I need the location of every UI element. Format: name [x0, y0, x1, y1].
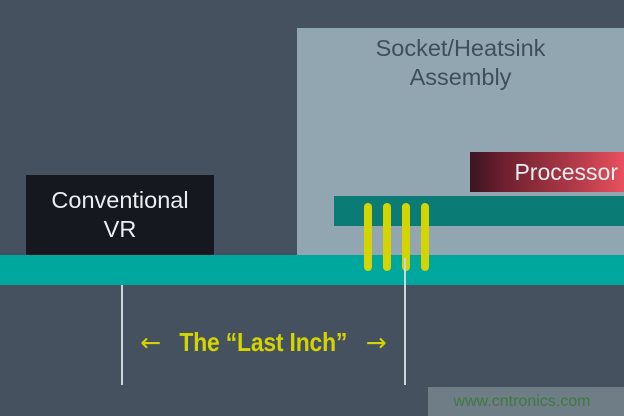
last-inch-caption: ← The “Last Inch” → — [121, 326, 406, 358]
diagram-canvas: Socket/Heatsink Assembly Processor Conve… — [0, 0, 624, 416]
arrow-left-icon: ← — [140, 330, 161, 355]
socket-label-line-1: Socket/Heatsink — [297, 34, 624, 63]
connector-pin-2-lower — [383, 240, 391, 271]
last-inch-label: The “Last Inch” — [180, 328, 348, 356]
connector-pin-1-lower — [364, 240, 372, 271]
socket-label-line-2: Assembly — [297, 63, 624, 92]
connector-pin-4-lower — [421, 240, 429, 271]
conventional-vr-label-line-1: Conventional — [26, 186, 214, 215]
socket-heatsink-assembly-label: Socket/Heatsink Assembly — [297, 34, 624, 92]
motherboard-pcb-bar — [0, 255, 624, 285]
watermark-label: www.cntronics.com — [428, 392, 616, 412]
conventional-vr-label: Conventional VR — [26, 186, 214, 244]
conventional-vr-label-line-2: VR — [26, 215, 214, 244]
package-substrate-block — [334, 196, 624, 226]
guide-line-right — [404, 258, 406, 385]
processor-label: Processor — [470, 158, 618, 186]
arrow-right-icon: → — [366, 330, 387, 355]
